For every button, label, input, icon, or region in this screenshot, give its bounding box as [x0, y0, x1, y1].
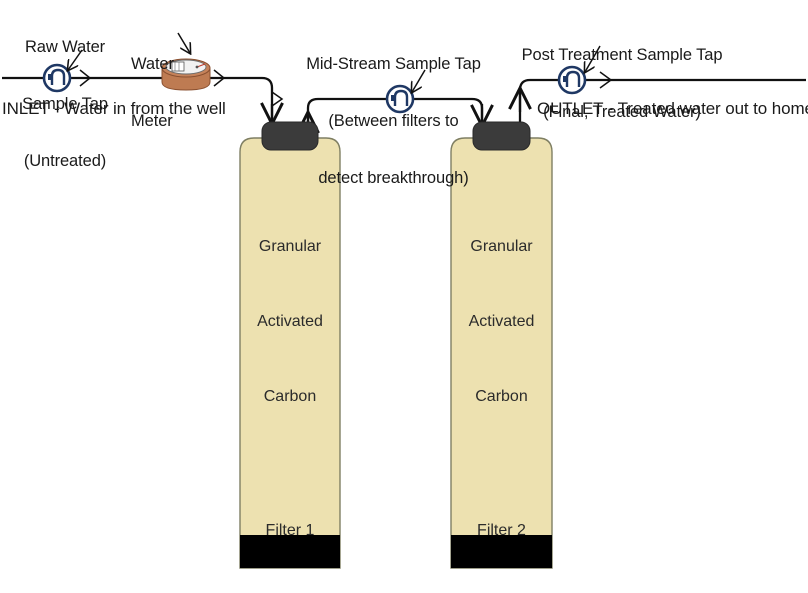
post-treatment-tap-label: Post Treatment Sample Tap (Final, Treate… — [512, 8, 732, 160]
filter-tank-1-label-line-2: Activated — [240, 309, 340, 334]
filter-tank-1-label-line-3: Carbon — [240, 384, 340, 409]
outlet-label: OUTLET - Treated water out to home — [537, 99, 808, 118]
filter-tank-2-label-line-3: Carbon — [451, 384, 552, 409]
raw-water-tap-label-line-3: (Untreated) — [6, 152, 124, 171]
filter-tank-1-label-line-4: Filter 1 — [240, 518, 340, 543]
filter-tank-1-label-line-1: Granular — [240, 234, 340, 259]
mid-stream-tap-label-line-1: Mid-Stream Sample Tap — [296, 55, 491, 74]
filter-tank-1-label: Granular Activated Carbon Filter 1 — [240, 184, 340, 593]
filter-tank-2-label: Granular Activated Carbon Filter 2 — [451, 184, 552, 593]
filter-tank-2-label-line-1: Granular — [451, 234, 552, 259]
water-meter-label-line-1: Water — [131, 55, 211, 74]
post-treatment-tap-label-line-1: Post Treatment Sample Tap — [512, 46, 732, 65]
mid-stream-tap-label-line-2: (Between filters to — [296, 112, 491, 131]
inlet-label: INLET - Water in from the well — [2, 99, 226, 118]
interstage-flow-arrow — [272, 92, 282, 106]
water-meter-label: Water Meter — [131, 17, 211, 169]
raw-water-tap-label-line-1: Raw Water — [6, 38, 124, 57]
filter-tank-2-label-line-2: Activated — [451, 309, 552, 334]
diagram-canvas: Raw Water Sample Tap (Untreated) Water M… — [0, 0, 808, 571]
filter-tank-2-label-line-4: Filter 2 — [451, 518, 552, 543]
